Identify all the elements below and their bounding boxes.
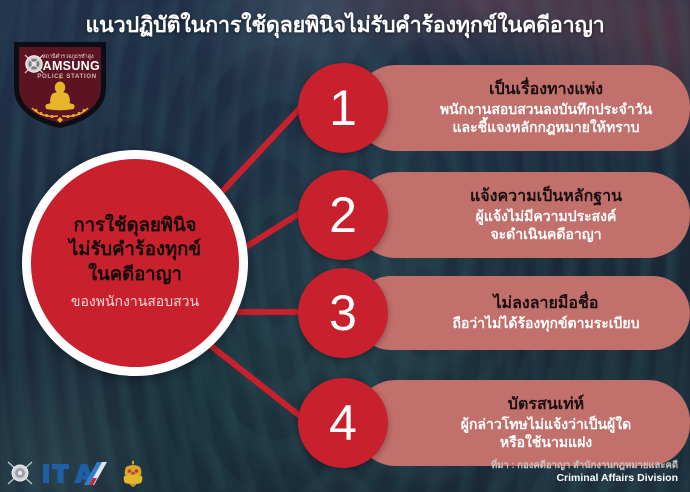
item-line-1-2: และชี้แจงหลักกฎหมายให้ทราบ xyxy=(453,118,640,136)
thai-royal-crest-icon xyxy=(120,458,146,488)
item-line-2-1: ผู้แจ้งไม่มีความประสงค์ xyxy=(476,207,617,225)
item-line-4-2: หรือใช้นามแฝง xyxy=(500,433,592,451)
hub-line-3: ในคดีอาญา xyxy=(88,262,182,286)
item-number-badge-1: 1 xyxy=(298,63,388,153)
item-number-badge-2: 2 xyxy=(298,170,388,260)
item-heading-1: เป็นเรื่องทางแพ่ง xyxy=(489,80,603,100)
samsung-police-station-badge: สถานีตำรวจภูธรซำสูง SAMSUNG POLICE STATI… xyxy=(10,38,110,130)
item-line-3-1: ถือว่าไม่ได้ร้องทุกข์ตามระเบียบ xyxy=(452,314,639,332)
item-heading-3: ไม่ลงลายมือชื่อ xyxy=(494,294,599,314)
item-row-3: ไม่ลงลายมือชื่อ ถือว่าไม่ได้ร้องทุกข์ตาม… xyxy=(298,272,690,354)
central-hub: การใช้ดุลยพินิจ ไม่รับคำร้องทุกข์ ในคดีอ… xyxy=(22,150,248,376)
item-heading-4: บัตรสนเท่ห์ xyxy=(508,395,584,415)
item-pill-2: แจ้งความเป็นหลักฐาน ผู้แจ้งไม่มีความประส… xyxy=(354,172,690,258)
item-line-1-1: พนักงานสอบสวนลงบันทึกประจำวัน xyxy=(440,100,652,118)
item-row-2: แจ้งความเป็นหลักฐาน ผู้แจ้งไม่มีความประส… xyxy=(298,168,690,262)
item-number-3: 3 xyxy=(329,288,357,338)
item-pill-3: ไม่ลงลายมือชื่อ ถือว่าไม่ได้ร้องทุกข์ตาม… xyxy=(354,276,690,350)
item-line-4-1: ผู้กล่าวโทษไม่แจ้งว่าเป็นผู้ใด xyxy=(461,415,631,433)
royal-thai-police-emblem-icon xyxy=(6,458,34,488)
credit-thai: ที่มา : กองคดีอาญา สำนักงานกฎหมายและคดี xyxy=(491,460,678,473)
item-row-4: บัตรสนเท่ห์ ผู้กล่าวโทษไม่แจ้งว่าเป็นผู้… xyxy=(298,376,690,470)
item-number-badge-3: 3 xyxy=(298,268,388,358)
badge-line1: SAMSUNG xyxy=(34,59,100,73)
footer-logo-group xyxy=(6,458,146,488)
item-heading-2: แจ้งความเป็นหลักฐาน xyxy=(470,187,622,207)
item-pill-4: บัตรสนเท่ห์ ผู้กล่าวโทษไม่แจ้งว่าเป็นผู้… xyxy=(354,380,690,466)
hub-subtitle: ของพนักงานสอบสวน xyxy=(71,291,199,313)
hub-line-2: ไม่รับคำร้องทุกข์ xyxy=(69,237,201,261)
badge-line2: POLICE STATION xyxy=(37,73,96,80)
hub-line-1: การใช้ดุลยพินิจ xyxy=(74,213,197,237)
item-number-4: 4 xyxy=(329,398,357,448)
badge-seal-icon xyxy=(25,55,43,73)
item-number-badge-4: 4 xyxy=(298,378,388,468)
ita-logo-icon xyxy=(41,458,113,488)
infographic-poster: แนวปฏิบัติในการใช้ดุลยพินิจไม่รับคำร้องท… xyxy=(0,0,690,492)
footer-credit: ที่มา : กองคดีอาญา สำนักงานกฎหมายและคดี … xyxy=(491,460,678,486)
connector-to-item-4 xyxy=(206,342,300,416)
item-line-2-2: จะดำเนินคดีอาญา xyxy=(490,225,601,243)
credit-english: Criminal Affairs Division xyxy=(491,472,678,486)
page-title: แนวปฏิบัติในการใช้ดุลยพินิจไม่รับคำร้องท… xyxy=(0,8,690,42)
item-number-1: 1 xyxy=(329,83,357,133)
item-row-1: เป็นเรื่องทางแพ่ง พนักงานสอบสวนลงบันทึกป… xyxy=(298,61,690,155)
item-number-2: 2 xyxy=(329,190,357,240)
item-pill-1: เป็นเรื่องทางแพ่ง พนักงานสอบสวนลงบันทึกป… xyxy=(354,65,690,151)
